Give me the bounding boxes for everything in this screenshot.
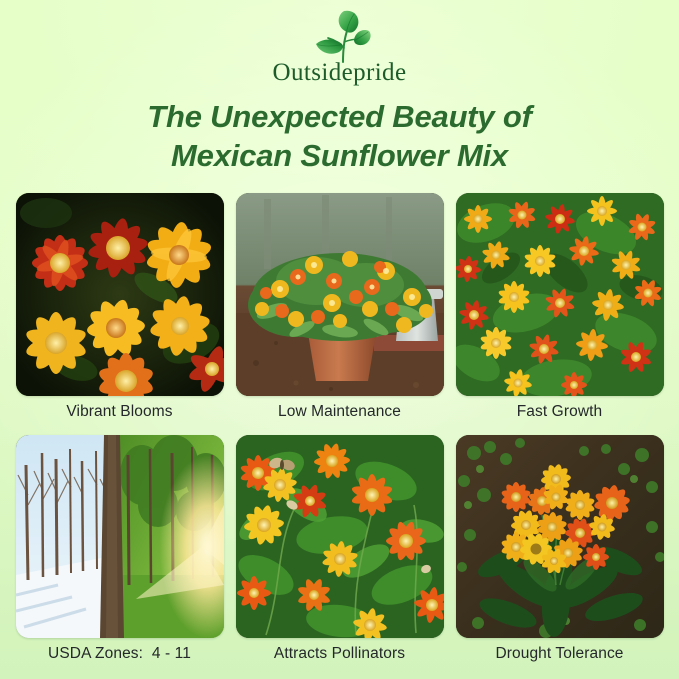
brand-logo: Outsidepride xyxy=(0,0,679,85)
photo-vibrant-blooms xyxy=(16,193,224,396)
feature-cell-low-maintenance: Low Maintenance xyxy=(235,193,445,422)
page-title-line-2: Mexican Sunflower Mix xyxy=(40,136,640,175)
feature-cell-drought-tolerance: Drought Tolerance xyxy=(455,435,665,664)
caption-attracts-pollinators: Attracts Pollinators xyxy=(274,645,405,664)
photo-fast-growth xyxy=(456,193,664,396)
photo-attracts-pollinators xyxy=(236,435,444,638)
feature-cell-usda-zones: USDA Zones: 4 - 11 xyxy=(15,435,225,664)
caption-usda-zones: USDA Zones: 4 - 11 xyxy=(48,645,191,664)
photo-low-maintenance xyxy=(236,193,444,396)
photo-drought-tolerance xyxy=(456,435,664,638)
page-title: The Unexpected Beauty of Mexican Sunflow… xyxy=(40,97,640,175)
page-title-line-1: The Unexpected Beauty of xyxy=(40,97,640,136)
photo-usda-zones xyxy=(16,435,224,638)
poster: Outsidepride The Unexpected Beauty of Me… xyxy=(0,0,679,679)
caption-fast-growth: Fast Growth xyxy=(517,403,603,422)
three-leaf-plant-icon xyxy=(297,8,383,64)
feature-cell-attracts-pollinators: Attracts Pollinators xyxy=(235,435,445,664)
feature-cell-fast-growth: Fast Growth xyxy=(455,193,665,422)
caption-drought-tolerance: Drought Tolerance xyxy=(495,645,623,664)
feature-grid: Vibrant Blooms xyxy=(15,193,665,663)
brand-wordmark: Outsidepride xyxy=(273,60,407,85)
caption-vibrant-blooms: Vibrant Blooms xyxy=(66,403,172,422)
caption-low-maintenance: Low Maintenance xyxy=(278,403,401,422)
feature-cell-vibrant-blooms: Vibrant Blooms xyxy=(15,193,225,422)
